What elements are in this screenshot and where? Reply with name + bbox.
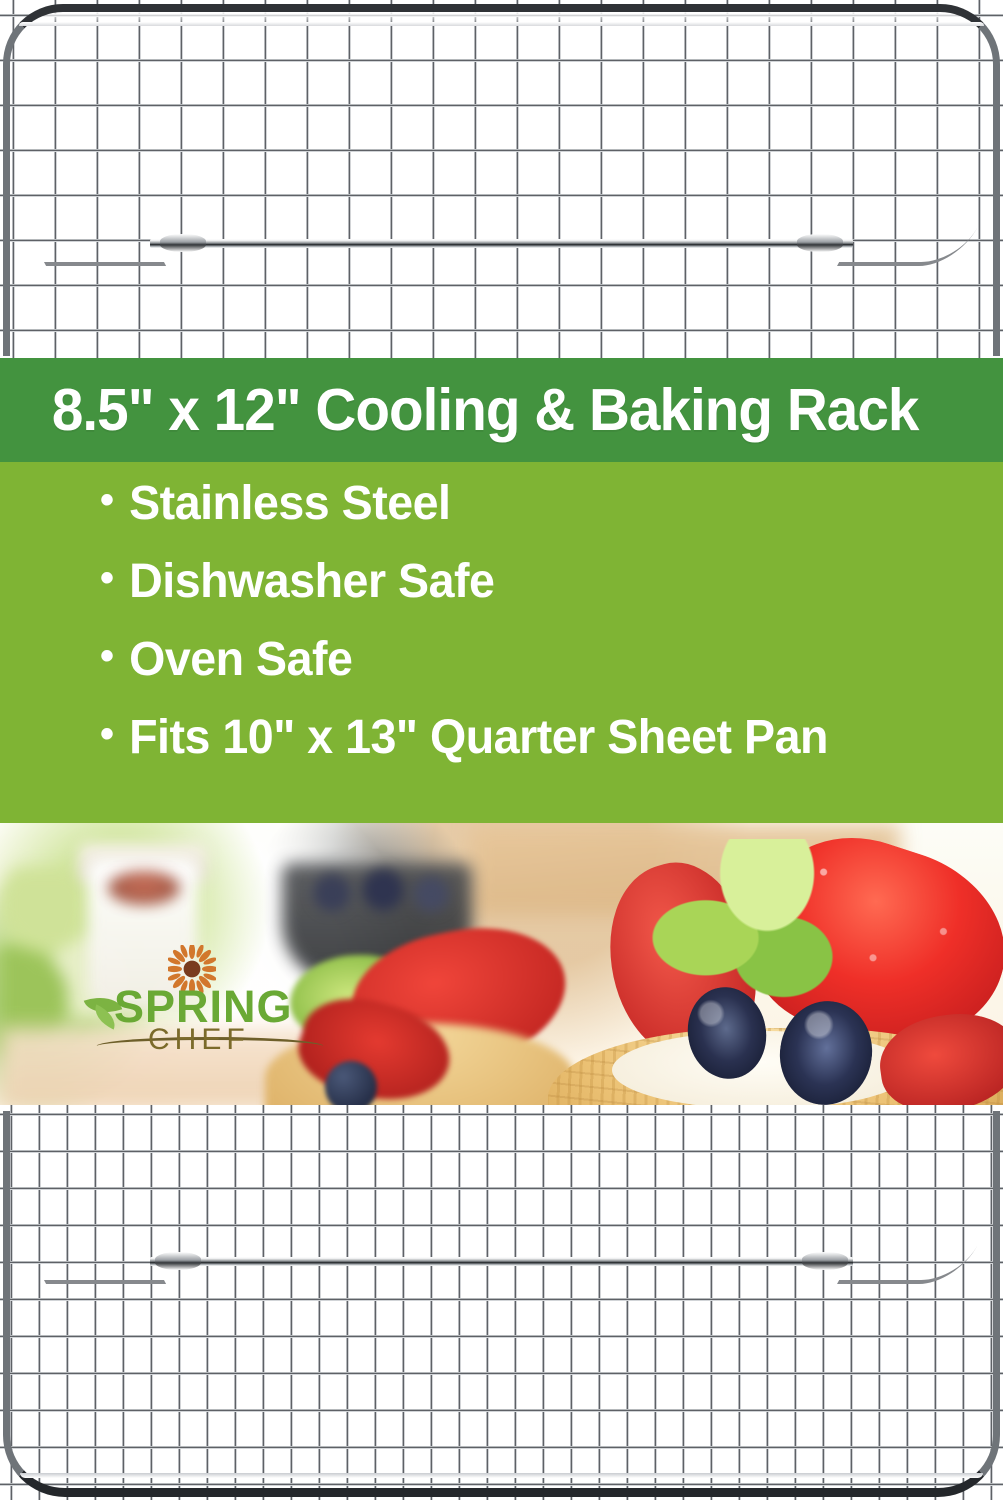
rack-wire-vertical — [180, 0, 183, 360]
rack-wire-horizontal — [0, 284, 1003, 287]
rack-wire-vertical — [138, 0, 141, 360]
rack-wire-vertical — [726, 0, 729, 360]
rack-wire-vertical — [94, 1105, 97, 1500]
rack-wire-vertical — [430, 1105, 433, 1500]
photo-jam — [108, 871, 180, 905]
top-cooling-rack-image — [0, 0, 1003, 360]
feature-label: Oven Safe — [100, 636, 352, 684]
support-leg-twist-left — [160, 234, 206, 252]
rack-wire-vertical — [516, 0, 519, 360]
rack-wire-vertical — [822, 1105, 825, 1500]
rack-wire-vertical — [206, 1105, 209, 1500]
rack-wire-vertical — [178, 1105, 181, 1500]
feature-label: Stainless Steel — [100, 480, 451, 528]
rack-wire-vertical — [768, 0, 771, 360]
feature-label: Fits 10" x 13" Quarter Sheet Pan — [100, 714, 828, 762]
rack-wire-vertical — [486, 1105, 489, 1500]
support-leg-ramp-right-2 — [837, 1246, 977, 1284]
rack-wire-vertical — [12, 0, 15, 360]
rack-wire-vertical — [402, 1105, 405, 1500]
rack-wire-vertical — [38, 1105, 41, 1500]
rack-wire-vertical — [934, 1105, 937, 1500]
rack-wire-vertical — [150, 1105, 153, 1500]
support-leg-twist-left-2 — [155, 1252, 201, 1270]
rack-wire-horizontal — [0, 1298, 1003, 1301]
rack-wire-vertical — [794, 1105, 797, 1500]
rack-wire-vertical — [390, 0, 393, 360]
rack-wire-vertical — [262, 1105, 265, 1500]
support-leg-bar-2 — [150, 1257, 853, 1266]
rack-wire-vertical — [682, 1105, 685, 1500]
feature-item: •Fits 10" x 13" Quarter Sheet Pan — [0, 714, 1003, 792]
rack-wire-horizontal — [0, 1224, 1003, 1227]
rack-wire-vertical — [626, 1105, 629, 1500]
features-band: •Stainless Steel•Dishwasher Safe•Oven Sa… — [0, 462, 1003, 823]
rack-wire-vertical — [906, 1105, 909, 1500]
rack-wire-vertical — [318, 1105, 321, 1500]
support-leg-twist-right-2 — [802, 1252, 848, 1270]
rack-wire-horizontal — [0, 59, 1003, 62]
bottom-rack-mesh — [0, 1105, 1003, 1500]
rack-wire-vertical — [766, 1105, 769, 1500]
rack-wire-vertical — [10, 1105, 13, 1500]
support-leg-bar — [150, 239, 853, 248]
bottom-rack-support-leg — [0, 1240, 1003, 1280]
food-photo: SPRING CHEF — [0, 823, 1003, 1105]
rack-wire-vertical — [432, 0, 435, 360]
rack-wire-vertical — [474, 0, 477, 360]
rack-wire-vertical — [348, 0, 351, 360]
rack-wire-vertical — [600, 0, 603, 360]
rack-wire-horizontal — [0, 104, 1003, 107]
rack-wire-vertical — [852, 0, 855, 360]
photo-bowl-berries — [300, 867, 460, 919]
rack-wire-vertical — [122, 1105, 125, 1500]
support-leg-ramp-left — [26, 228, 166, 266]
rack-wire-vertical — [684, 0, 687, 360]
title-band: 8.5" x 12" Cooling & Baking Rack — [0, 358, 1003, 462]
rack-wire-horizontal — [0, 1187, 1003, 1190]
product-image: 8.5" x 12" Cooling & Baking Rack •Stainl… — [0, 0, 1003, 1500]
rack-wire-horizontal — [0, 1409, 1003, 1412]
top-rack-support-leg — [0, 222, 1003, 262]
brand-logo: SPRING CHEF — [86, 945, 334, 1065]
rack-wire-horizontal — [0, 1335, 1003, 1338]
feature-item: •Oven Safe — [0, 636, 1003, 714]
rack-wire-vertical — [936, 0, 939, 360]
rack-wire-vertical — [962, 1105, 965, 1500]
rack-wire-vertical — [810, 0, 813, 360]
feature-item: •Dishwasher Safe — [0, 558, 1003, 636]
rack-wire-vertical — [894, 0, 897, 360]
rack-wire-vertical — [598, 1105, 601, 1500]
rack-wire-vertical — [558, 0, 561, 360]
rack-wire-vertical — [710, 1105, 713, 1500]
rack-wire-horizontal — [0, 1446, 1003, 1449]
rack-wire-horizontal — [0, 1372, 1003, 1375]
rack-wire-horizontal — [0, 14, 1003, 17]
rack-wire-vertical — [306, 0, 309, 360]
rack-wire-horizontal — [0, 1150, 1003, 1153]
photo-blueberry-back — [325, 1061, 377, 1105]
brand-name-bottom: CHEF — [148, 1025, 250, 1055]
rack-wire-vertical — [96, 0, 99, 360]
rack-wire-horizontal — [0, 149, 1003, 152]
rack-wire-vertical — [66, 1105, 69, 1500]
rack-wire-vertical — [978, 0, 981, 360]
rack-wire-horizontal — [0, 329, 1003, 332]
rack-wire-vertical — [738, 1105, 741, 1500]
rack-wire-vertical — [654, 1105, 657, 1500]
rack-wire-vertical — [642, 0, 645, 360]
rack-wire-vertical — [850, 1105, 853, 1500]
rack-wire-vertical — [222, 0, 225, 360]
rack-wire-horizontal — [0, 1113, 1003, 1116]
support-leg-ramp-left-2 — [26, 1246, 166, 1284]
feature-list: •Stainless Steel•Dishwasher Safe•Oven Sa… — [0, 462, 1003, 792]
rack-wire-vertical — [570, 1105, 573, 1500]
rack-wire-vertical — [878, 1105, 881, 1500]
top-rack-mesh — [0, 0, 1003, 360]
bottom-cooling-rack-image — [0, 1105, 1003, 1500]
rack-wire-vertical — [234, 1105, 237, 1500]
feature-label: Dishwasher Safe — [100, 558, 494, 606]
rack-wire-vertical — [54, 0, 57, 360]
rack-wire-vertical — [374, 1105, 377, 1500]
rack-wire-vertical — [264, 0, 267, 360]
feature-item: •Stainless Steel — [0, 480, 1003, 558]
rack-wire-vertical — [990, 1105, 993, 1500]
rack-wire-vertical — [514, 1105, 517, 1500]
rack-wire-vertical — [542, 1105, 545, 1500]
rack-wire-horizontal — [0, 194, 1003, 197]
rack-wire-vertical — [290, 1105, 293, 1500]
product-title: 8.5" x 12" Cooling & Baking Rack — [0, 381, 918, 440]
rack-wire-vertical — [458, 1105, 461, 1500]
support-leg-twist-right — [797, 234, 843, 252]
rack-wire-vertical — [346, 1105, 349, 1500]
support-leg-ramp-right — [837, 228, 977, 266]
rack-wire-horizontal — [0, 1483, 1003, 1486]
